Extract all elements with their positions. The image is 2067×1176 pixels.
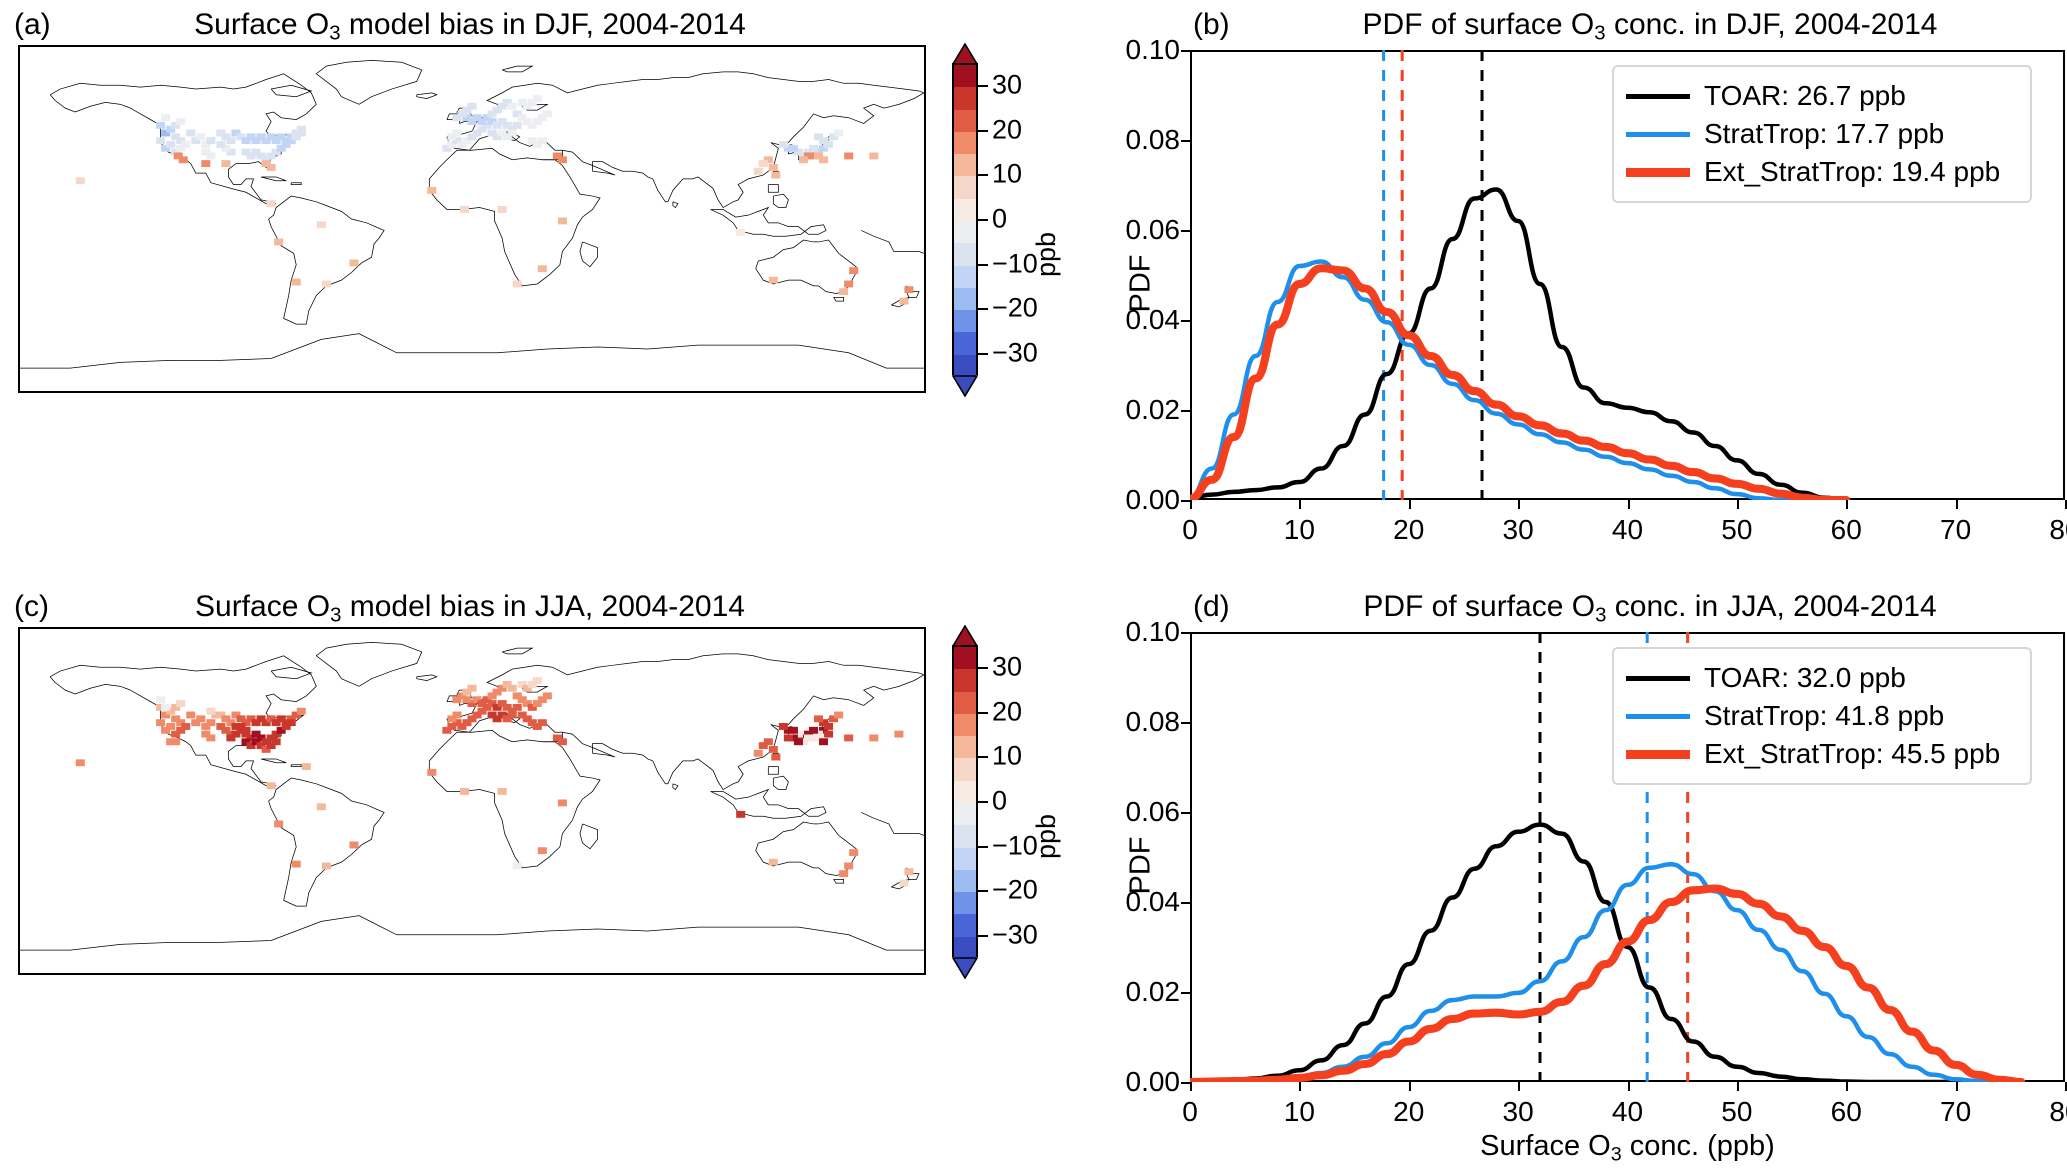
map-grid-cell bbox=[819, 738, 828, 745]
map-grid-cell bbox=[779, 723, 788, 730]
y-axis-tick-mark bbox=[1181, 140, 1190, 142]
x-axis-tick-mark bbox=[1956, 1082, 1958, 1091]
x-axis-tick-label: 60 bbox=[1806, 1098, 1886, 1126]
colorbar-segment bbox=[954, 870, 976, 892]
map-grid-cell bbox=[241, 727, 250, 734]
x-axis-tick-label: 80 bbox=[2025, 1098, 2067, 1126]
map-grid-cell bbox=[513, 863, 522, 870]
map-grid-cell bbox=[176, 727, 185, 734]
coastline bbox=[269, 196, 385, 324]
x-axis-tick-mark bbox=[1737, 1082, 1739, 1091]
colorbar-jja-max-arrow bbox=[952, 625, 978, 645]
panel-b-title-text: PDF of surface O3 conc. in DJF, 2004-201… bbox=[1363, 8, 1938, 41]
series-line bbox=[1190, 889, 2021, 1083]
x-axis-tick-mark bbox=[1518, 500, 1520, 509]
map-grid-cell bbox=[904, 868, 913, 875]
map-grid-cell bbox=[349, 260, 358, 267]
panel-a-tag: (a) bbox=[14, 10, 51, 40]
x-axis-tick-label: 0 bbox=[1150, 516, 1230, 544]
map-grid-cell bbox=[736, 811, 745, 818]
map-grid-cell bbox=[899, 298, 908, 305]
map-grid-cell bbox=[322, 281, 331, 288]
map-grid-cell bbox=[498, 788, 507, 795]
plot-d: 0.000.020.040.060.080.10 010203040506070… bbox=[1130, 627, 2067, 1087]
x-axis-tick-label: 30 bbox=[1478, 1098, 1558, 1126]
x-axis-tick-mark bbox=[1737, 500, 1739, 509]
colorbar-tick-label: −30 bbox=[992, 921, 1038, 948]
map-grid-cell bbox=[176, 145, 185, 152]
x-axis-tick-mark bbox=[1518, 1082, 1520, 1091]
y-axis-tick-label: 0.08 bbox=[1080, 708, 1180, 736]
colorbar-segment bbox=[954, 803, 976, 825]
map-grid-cell bbox=[226, 137, 235, 144]
colorbar-segment bbox=[954, 892, 976, 914]
map-grid-cell bbox=[814, 133, 823, 140]
colorbar-tick-mark bbox=[978, 219, 988, 221]
legend-item[interactable]: StratTrop: 17.7 ppb bbox=[1626, 115, 2014, 153]
x-axis-tick-mark bbox=[1299, 500, 1301, 509]
y-axis-tick-mark bbox=[1181, 320, 1190, 322]
map-grid-cell bbox=[272, 738, 281, 745]
colorbar-segment bbox=[954, 132, 976, 154]
coastline bbox=[269, 778, 385, 906]
y-axis-tick-mark bbox=[1181, 1082, 1190, 1084]
colorbar-segment bbox=[954, 288, 976, 310]
y-axis-tick-label: 0.02 bbox=[1080, 396, 1180, 424]
colorbar-tick-mark bbox=[978, 667, 988, 669]
map-grid-cell bbox=[452, 696, 461, 703]
map-grid-cell bbox=[176, 118, 185, 125]
map-grid-cell bbox=[297, 708, 306, 715]
panel-b-title: PDF of surface O3 conc. in DJF, 2004-201… bbox=[1280, 10, 2020, 44]
x-axis-tick-label: 70 bbox=[1916, 516, 1996, 544]
legend-label: TOAR: 26.7 ppb bbox=[1704, 82, 1906, 110]
plot-d-legend[interactable]: TOAR: 32.0 ppbStratTrop: 41.8 ppbExt_Str… bbox=[1612, 647, 2032, 785]
coastline bbox=[834, 879, 844, 883]
coastline bbox=[271, 85, 311, 96]
coastline bbox=[756, 822, 856, 876]
map-grid-cell bbox=[834, 712, 843, 719]
map-grid-cell bbox=[216, 141, 225, 148]
map-grid-cell bbox=[849, 849, 858, 856]
colorbar-tick-mark bbox=[978, 130, 988, 132]
map-grid-cell bbox=[508, 130, 517, 137]
colorbar-segment bbox=[954, 714, 976, 736]
coastline bbox=[417, 93, 437, 99]
legend-label: Ext_StratTrop: 45.5 ppb bbox=[1704, 740, 2000, 768]
legend-item[interactable]: Ext_StratTrop: 19.4 ppb bbox=[1626, 153, 2014, 191]
map-grid-cell bbox=[558, 738, 567, 745]
coastline bbox=[502, 648, 532, 654]
coastline bbox=[20, 916, 924, 950]
map-grid-cell bbox=[427, 187, 436, 194]
plot-d-xlabel-text: Surface O3 conc. (ppb) bbox=[1480, 1130, 1775, 1162]
colorbar-tick-label: −20 bbox=[992, 877, 1038, 904]
colorbar-segment bbox=[954, 199, 976, 221]
map-grid-cell bbox=[156, 719, 165, 726]
map-grid-cell bbox=[538, 137, 547, 144]
map-grid-cell bbox=[769, 164, 778, 171]
map-grid-cell bbox=[292, 861, 301, 868]
map-grid-cell bbox=[206, 708, 215, 715]
colorbar-segment bbox=[954, 176, 976, 198]
map-grid-cell bbox=[206, 137, 215, 144]
map-grid-cell bbox=[759, 742, 768, 749]
coastline bbox=[261, 759, 286, 763]
colorbar-jja-ticks: 3020100−10−20−30 bbox=[978, 645, 1042, 957]
map-grid-cell bbox=[206, 719, 215, 726]
coastline bbox=[562, 93, 924, 208]
coastline bbox=[502, 66, 532, 72]
x-axis-tick-label: 0 bbox=[1150, 1098, 1230, 1126]
colorbar-djf-min-arrow bbox=[952, 375, 978, 395]
colorbar-segment bbox=[954, 937, 976, 959]
coastline bbox=[768, 767, 778, 775]
x-axis-tick-label: 50 bbox=[1697, 516, 1777, 544]
coastline bbox=[711, 208, 827, 237]
map-grid-cell bbox=[538, 719, 547, 726]
colorbar-tick-label: 30 bbox=[992, 72, 1022, 99]
x-axis-tick-mark bbox=[1190, 1082, 1192, 1091]
legend-label: TOAR: 32.0 ppb bbox=[1704, 664, 1906, 692]
map-grid-cell bbox=[76, 177, 85, 184]
colorbar-segment bbox=[954, 736, 976, 758]
y-axis-tick-label: 0.06 bbox=[1080, 798, 1180, 826]
colorbar-djf-max-arrow bbox=[952, 43, 978, 63]
map-grid-cell bbox=[513, 281, 522, 288]
coastline bbox=[768, 185, 778, 193]
colorbar-segment bbox=[954, 914, 976, 936]
map-grid-cell bbox=[452, 114, 461, 121]
coastline bbox=[756, 240, 856, 294]
map-grid-cell bbox=[317, 803, 326, 810]
map-grid-cell bbox=[558, 156, 567, 163]
coastline bbox=[291, 765, 301, 767]
map-grid-cell bbox=[771, 754, 780, 761]
x-axis-tick-mark bbox=[1956, 500, 1958, 509]
coastline bbox=[861, 230, 924, 253]
colorbar-djf-bar bbox=[952, 63, 978, 375]
map-grid-cell bbox=[161, 704, 170, 711]
coastline bbox=[271, 667, 311, 678]
map-grid-cell bbox=[844, 863, 853, 870]
legend-item[interactable]: Ext_StratTrop: 45.5 ppb bbox=[1626, 735, 2014, 773]
coastline bbox=[711, 790, 827, 819]
map-grid-cell bbox=[508, 103, 517, 110]
colorbar-segment bbox=[954, 647, 976, 669]
colorbar-segment bbox=[954, 221, 976, 243]
colorbar-tick-mark bbox=[978, 174, 988, 176]
colorbar-djf-ticks: 3020100−10−20−30 bbox=[978, 63, 1042, 375]
map-grid-cell bbox=[201, 160, 210, 167]
plot-d-xlabel: Surface O3 conc. (ppb) bbox=[1190, 1132, 2065, 1165]
panel-d-title: PDF of surface O3 conc. in JJA, 2004-201… bbox=[1280, 592, 2020, 626]
y-axis-tick-mark bbox=[1181, 632, 1190, 634]
map-grid-cell bbox=[513, 704, 522, 711]
panel-b-tag: (b) bbox=[1193, 10, 1230, 40]
x-axis-tick-mark bbox=[1846, 500, 1848, 509]
x-axis-tick-label: 40 bbox=[1588, 516, 1668, 544]
map-grid-cell bbox=[322, 863, 331, 870]
map-grid-cell bbox=[839, 288, 848, 295]
x-axis-tick-label: 50 bbox=[1697, 1098, 1777, 1126]
colorbar-tick-label: 10 bbox=[992, 743, 1022, 770]
y-axis-tick-label: 0.00 bbox=[1080, 486, 1180, 514]
map-grid-cell bbox=[849, 267, 858, 274]
colorbar-segment bbox=[954, 825, 976, 847]
map-grid-cell bbox=[513, 122, 522, 129]
colorbar-segment bbox=[954, 758, 976, 780]
map-grid-cell bbox=[161, 114, 170, 121]
map-grid-cell bbox=[467, 685, 476, 692]
map-djf[interactable] bbox=[18, 45, 926, 393]
map-grid-cell bbox=[274, 820, 283, 827]
map-grid-cell bbox=[156, 122, 165, 129]
map-grid-cell bbox=[824, 731, 833, 738]
legend-label: StratTrop: 17.7 ppb bbox=[1704, 120, 1944, 148]
x-axis-tick-label: 10 bbox=[1259, 1098, 1339, 1126]
colorbar-tick-mark bbox=[978, 890, 988, 892]
map-grid-cell bbox=[226, 734, 235, 741]
colorbar-segment bbox=[954, 781, 976, 803]
panel-d-title-text: PDF of surface O3 conc. in JJA, 2004-201… bbox=[1363, 590, 1936, 623]
coastline bbox=[316, 60, 421, 104]
colorbar-tick-mark bbox=[978, 308, 988, 310]
colorbar-segment bbox=[954, 355, 976, 377]
x-axis-tick-mark bbox=[1299, 1082, 1301, 1091]
map-grid-cell bbox=[156, 137, 165, 144]
colorbar-tick-mark bbox=[978, 935, 988, 937]
coastline bbox=[316, 642, 421, 686]
legend-color-swatch bbox=[1626, 168, 1690, 177]
map-grid-cell bbox=[179, 156, 188, 163]
y-axis-tick-label: 0.00 bbox=[1080, 1068, 1180, 1096]
y-axis-tick-mark bbox=[1181, 992, 1190, 994]
colorbar-segment bbox=[954, 154, 976, 176]
map-grid-cell bbox=[779, 141, 788, 148]
x-axis-tick-label: 70 bbox=[1916, 1098, 1996, 1126]
coastline bbox=[673, 784, 678, 790]
coastline bbox=[773, 194, 788, 207]
colorbar-tick-label: 30 bbox=[992, 654, 1022, 681]
map-grid-cell bbox=[533, 95, 542, 102]
map-grid-cell bbox=[171, 738, 180, 745]
colorbar-segment bbox=[954, 110, 976, 132]
x-axis-tick-label: 60 bbox=[1806, 516, 1886, 544]
legend-item[interactable]: TOAR: 26.7 ppb bbox=[1626, 77, 2014, 115]
colorbar-tick-label: −30 bbox=[992, 339, 1038, 366]
coastline bbox=[580, 242, 598, 267]
map-grid-cell bbox=[156, 696, 165, 703]
legend-item[interactable]: StratTrop: 41.8 ppb bbox=[1626, 697, 2014, 735]
map-grid-cell bbox=[533, 677, 542, 684]
panel-c-title: Surface O3 model bias in JJA, 2004-2014 bbox=[90, 592, 850, 626]
map-grid-cell bbox=[267, 782, 276, 789]
map-jja[interactable] bbox=[18, 627, 926, 975]
map-grid-cell bbox=[274, 238, 283, 245]
colorbar-segment bbox=[954, 332, 976, 354]
figure-root: (a) Surface O3 model bias in DJF, 2004-2… bbox=[0, 0, 2067, 1176]
colorbar-tick-label: 0 bbox=[992, 788, 1007, 815]
x-axis-tick-mark bbox=[1628, 1082, 1630, 1091]
x-axis-tick-label: 40 bbox=[1588, 1098, 1668, 1126]
map-grid-cell bbox=[508, 712, 517, 719]
map-grid-cell bbox=[754, 750, 763, 757]
legend-color-swatch bbox=[1626, 750, 1690, 759]
coastline bbox=[429, 730, 600, 868]
map-grid-cell bbox=[196, 715, 205, 722]
map-grid-cell bbox=[543, 110, 552, 117]
plot-b-ylabel: PDF bbox=[1127, 255, 1156, 313]
map-grid-cell bbox=[904, 286, 913, 293]
map-grid-cell bbox=[538, 265, 547, 272]
map-grid-cell bbox=[869, 734, 878, 741]
colorbar-tick-mark bbox=[978, 801, 988, 803]
map-grid-cell bbox=[769, 859, 778, 866]
map-grid-cell bbox=[186, 130, 195, 137]
map-grid-cell bbox=[844, 281, 853, 288]
map-grid-cell bbox=[769, 277, 778, 284]
map-grid-cell bbox=[176, 700, 185, 707]
map-grid-cell bbox=[558, 799, 567, 806]
colorbar-tick-label: 20 bbox=[992, 698, 1022, 725]
map-grid-cell bbox=[452, 712, 461, 719]
colorbar-jja-min-arrow bbox=[952, 957, 978, 977]
legend-label: StratTrop: 41.8 ppb bbox=[1704, 702, 1944, 730]
y-axis-tick-mark bbox=[1181, 902, 1190, 904]
map-grid-cell bbox=[427, 769, 436, 776]
colorbar-jja-unit: ppb bbox=[1033, 814, 1060, 859]
colorbar-segment bbox=[954, 848, 976, 870]
coastline bbox=[773, 776, 788, 789]
plot-b-legend[interactable]: TOAR: 26.7 ppbStratTrop: 17.7 ppbExt_Str… bbox=[1612, 65, 2032, 203]
colorbar-jja: 3020100−10−20−30 ppb bbox=[952, 627, 1092, 975]
x-axis-tick-mark bbox=[1628, 500, 1630, 509]
colorbar-tick-label: 10 bbox=[992, 161, 1022, 188]
y-axis-tick-label: 0.06 bbox=[1080, 216, 1180, 244]
coastline bbox=[261, 177, 286, 181]
map-grid-cell bbox=[814, 715, 823, 722]
colorbar-tick-mark bbox=[978, 756, 988, 758]
colorbar-djf: 3020100−10−20−30 ppb bbox=[952, 45, 1092, 393]
map-grid-cell bbox=[349, 842, 358, 849]
map-grid-cell bbox=[452, 130, 461, 137]
map-grid-cell bbox=[186, 712, 195, 719]
map-grid-cell bbox=[262, 160, 271, 167]
x-axis-tick-mark bbox=[1846, 1082, 1848, 1091]
colorbar-segment bbox=[954, 87, 976, 109]
panel-a-title-text: Surface O3 model bias in DJF, 2004-2014 bbox=[194, 8, 746, 41]
map-grid-cell bbox=[771, 172, 780, 179]
map-grid-cell bbox=[869, 152, 878, 159]
map-grid-cell bbox=[302, 763, 311, 770]
legend-color-swatch bbox=[1626, 714, 1690, 719]
colorbar-tick-label: 20 bbox=[992, 116, 1022, 143]
map-grid-cell bbox=[844, 734, 853, 741]
coastline bbox=[291, 183, 301, 185]
coastline bbox=[580, 824, 598, 849]
coastline bbox=[429, 148, 600, 286]
legend-color-swatch bbox=[1626, 132, 1690, 137]
colorbar-tick-label: 0 bbox=[992, 206, 1007, 233]
map-grid-cell bbox=[834, 130, 843, 137]
map-grid-cell bbox=[819, 156, 828, 163]
map-grid-cell bbox=[287, 719, 296, 726]
y-axis-tick-label: 0.08 bbox=[1080, 126, 1180, 154]
coastline bbox=[20, 334, 924, 368]
legend-item[interactable]: TOAR: 32.0 ppb bbox=[1626, 659, 2014, 697]
map-grid-cell bbox=[839, 870, 848, 877]
map-grid-cell bbox=[460, 788, 469, 795]
coastline bbox=[673, 202, 678, 208]
colorbar-segment bbox=[954, 266, 976, 288]
legend-label: Ext_StratTrop: 19.4 ppb bbox=[1704, 158, 2000, 186]
colorbar-djf-unit: ppb bbox=[1033, 232, 1060, 277]
colorbar-tick-mark bbox=[978, 353, 988, 355]
map-grid-cell bbox=[769, 746, 778, 753]
legend-color-swatch bbox=[1626, 94, 1690, 99]
y-axis-tick-label: 0.10 bbox=[1080, 618, 1180, 646]
map-grid-cell bbox=[267, 200, 276, 207]
map-grid-cell bbox=[523, 715, 532, 722]
map-grid-cell bbox=[206, 734, 215, 741]
x-axis-tick-mark bbox=[1409, 1082, 1411, 1091]
map-grid-cell bbox=[736, 229, 745, 236]
x-axis-tick-label: 30 bbox=[1478, 516, 1558, 544]
map-grid-cell bbox=[844, 152, 853, 159]
colorbar-jja-bar bbox=[952, 645, 978, 957]
panel-d-tag: (d) bbox=[1193, 592, 1230, 622]
colorbar-tick-mark bbox=[978, 85, 988, 87]
colorbar-segment bbox=[954, 65, 976, 87]
map-grid-cell bbox=[799, 156, 808, 163]
coastline bbox=[861, 812, 924, 835]
y-axis-tick-mark bbox=[1181, 500, 1190, 502]
map-grid-cell bbox=[538, 847, 547, 854]
x-axis-tick-label: 20 bbox=[1369, 1098, 1449, 1126]
map-grid-cell bbox=[206, 152, 215, 159]
x-axis-tick-label: 80 bbox=[2025, 516, 2067, 544]
coastline bbox=[417, 675, 437, 681]
map-grid-cell bbox=[460, 206, 469, 213]
map-djf-svg bbox=[20, 47, 924, 391]
map-grid-cell bbox=[292, 279, 301, 286]
y-axis-tick-mark bbox=[1181, 812, 1190, 814]
coastline bbox=[562, 675, 924, 790]
series-line bbox=[1190, 825, 2021, 1082]
y-axis-tick-label: 0.10 bbox=[1080, 36, 1180, 64]
map-grid-cell bbox=[784, 734, 793, 741]
x-axis-tick-label: 10 bbox=[1259, 516, 1339, 544]
map-grid-cell bbox=[759, 160, 768, 167]
series-line bbox=[1190, 190, 1846, 501]
plot-d-ylabel: PDF bbox=[1127, 837, 1156, 895]
series-line bbox=[1190, 864, 2021, 1082]
map-grid-cell bbox=[558, 217, 567, 224]
map-grid-cell bbox=[216, 723, 225, 730]
map-grid-cell bbox=[899, 880, 908, 887]
x-axis-tick-label: 20 bbox=[1369, 516, 1449, 544]
plot-b: 0.000.020.040.060.080.10 010203040506070… bbox=[1130, 45, 2067, 505]
x-axis-tick-mark bbox=[1190, 500, 1192, 509]
colorbar-segment bbox=[954, 310, 976, 332]
map-grid-cell bbox=[894, 731, 903, 738]
map-grid-cell bbox=[508, 685, 517, 692]
panel-c-tag: (c) bbox=[14, 592, 49, 622]
map-grid-cell bbox=[166, 723, 175, 730]
panel-a-title: Surface O3 model bias in DJF, 2004-2014 bbox=[90, 10, 850, 44]
map-grid-cell bbox=[498, 206, 507, 213]
